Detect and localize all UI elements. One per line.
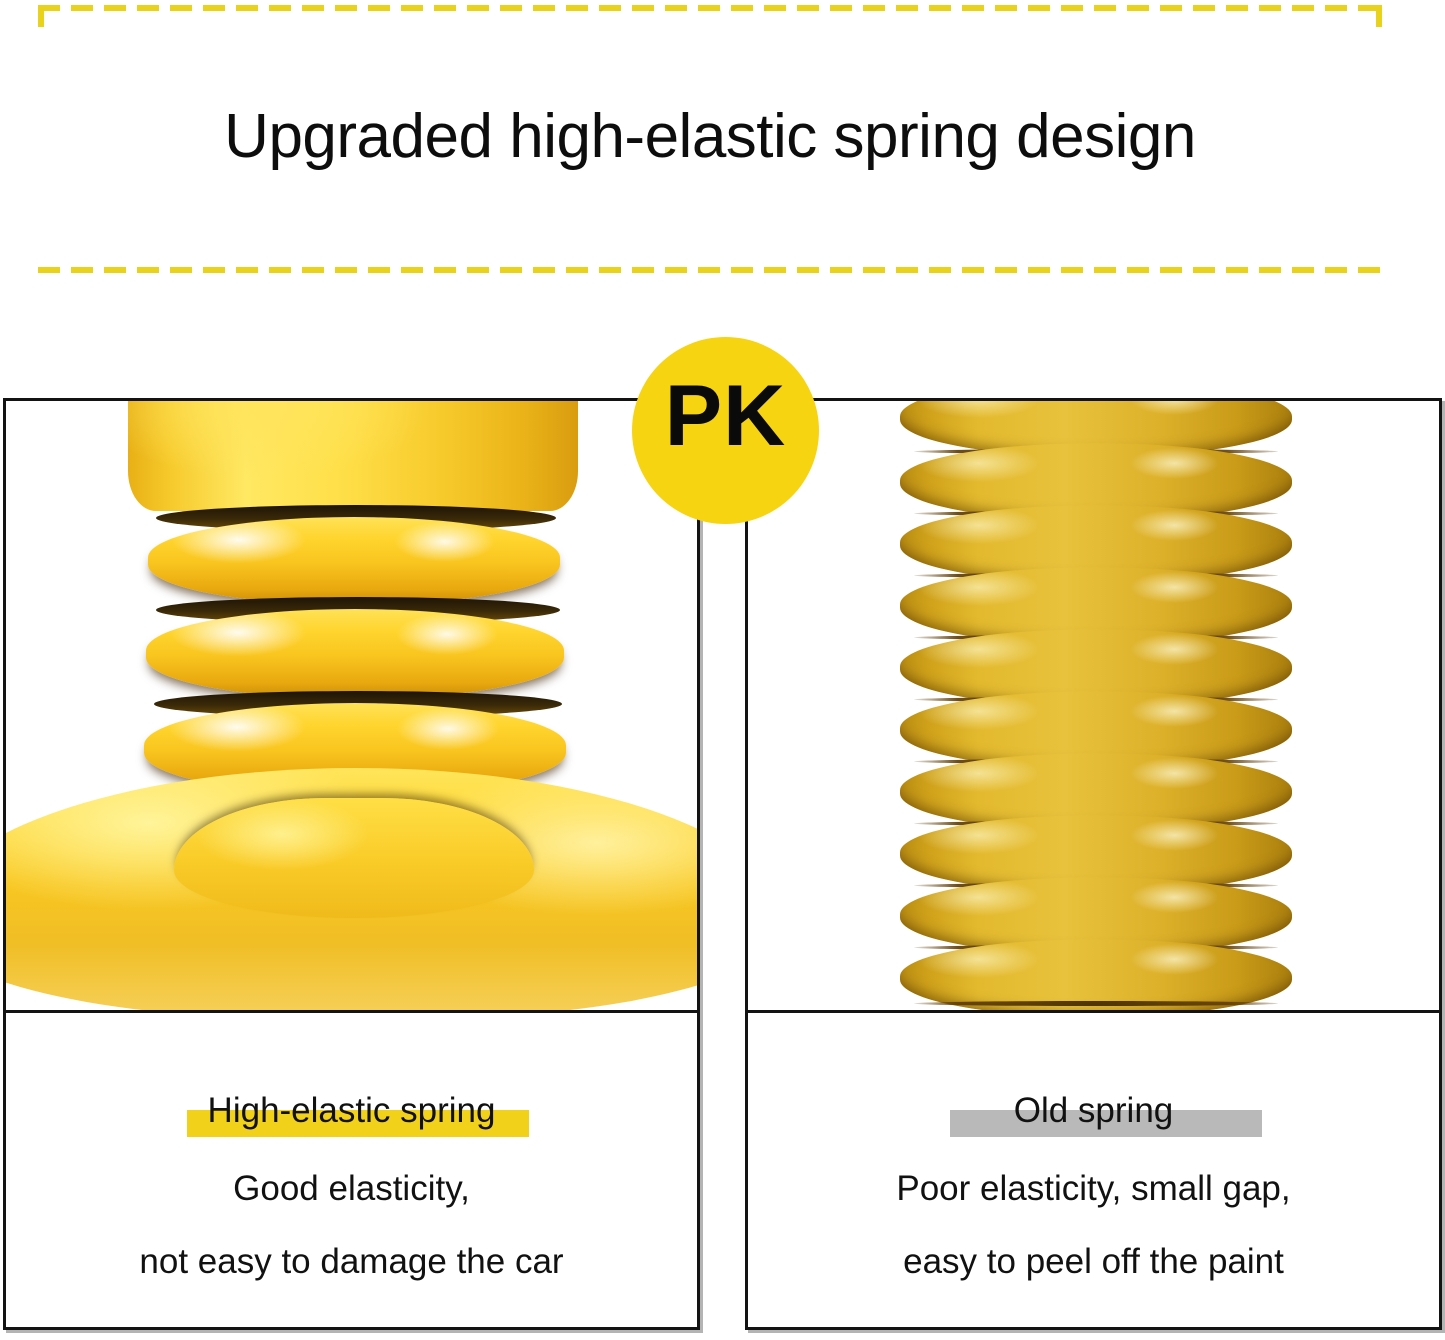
comparison-card-old-spring: Old spring Poor elasticity, small gap, e… bbox=[745, 398, 1442, 1330]
caption-right: Old spring Poor elasticity, small gap, e… bbox=[748, 1013, 1439, 1327]
caption-heading-wrapper: High-elastic spring bbox=[6, 1091, 697, 1137]
caption-heading: Old spring bbox=[1014, 1091, 1174, 1130]
old-spring-photo bbox=[748, 401, 1439, 1013]
spring-coil bbox=[128, 401, 578, 511]
pk-badge-label: PK bbox=[632, 370, 819, 462]
spring-illustration-old bbox=[748, 401, 1439, 1010]
dashed-border-top bbox=[38, 5, 1382, 11]
caption-heading: High-elastic spring bbox=[208, 1091, 496, 1130]
spring-coil bbox=[148, 517, 560, 605]
caption-line-2: not easy to damage the car bbox=[6, 1241, 697, 1283]
spring-gap bbox=[914, 1001, 1278, 1006]
comparison-card-high-elastic: High-elastic spring Good elasticity, not… bbox=[3, 398, 700, 1330]
spring-coil bbox=[146, 609, 564, 699]
dashed-border-bottom bbox=[38, 267, 1382, 273]
spring-base-neck bbox=[174, 798, 534, 918]
pk-versus-badge: PK bbox=[632, 337, 819, 524]
high-elastic-spring-photo bbox=[6, 401, 697, 1013]
caption-line-1: Good elasticity, bbox=[6, 1168, 697, 1210]
spring-illustration-new bbox=[6, 401, 697, 1010]
title-banner: Upgraded high-elastic spring design bbox=[38, 5, 1382, 273]
caption-line-2: easy to peel off the paint bbox=[748, 1241, 1439, 1283]
caption-line-1: Poor elasticity, small gap, bbox=[748, 1168, 1439, 1210]
page-title: Upgraded high-elastic spring design bbox=[38, 101, 1382, 173]
caption-left: High-elastic spring Good elasticity, not… bbox=[6, 1013, 697, 1327]
caption-heading-wrapper: Old spring bbox=[748, 1091, 1439, 1137]
